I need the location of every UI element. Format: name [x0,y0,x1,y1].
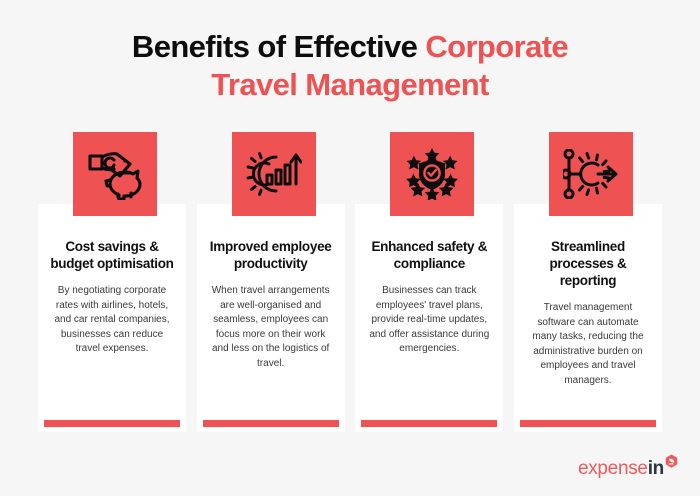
title-text-dark: Benefits of Effective [132,29,425,64]
card-heading: Improved employee productivity [207,238,335,272]
card-icon-tile [73,132,157,216]
gear-with-nodes-and-arrow-icon [563,149,619,199]
card-heading: Streamlined processes & reporting [524,238,652,289]
card-heading: Cost savings & budget optimisation [48,238,176,272]
card-heading: Enhanced safety & compliance [365,238,493,272]
card-body-text: When travel arrangements are well-organi… [209,284,333,371]
card-bottom-rule [44,420,180,427]
title-line-2: Travel Management [0,66,700,104]
card-bottom-rule [361,420,497,427]
card-icon-tile [390,132,474,216]
card-body-text: Businesses can track employees' travel p… [367,284,491,357]
card-body-text: By negotiating corporate rates with airl… [50,284,174,357]
card-bottom-rule [203,420,339,427]
benefit-card-grid: Cost savings & budget optimisation By ne… [38,132,662,432]
benefit-card[interactable]: Cost savings & budget optimisation By ne… [38,132,186,432]
hand-inserting-money-into-piggy-bank-icon [87,148,143,200]
gear-with-rising-bar-chart-icon [246,148,302,200]
hexagon-mark-icon [665,454,678,474]
title-line-1: Benefits of Effective Corporate [0,28,700,66]
title-text-accent-1: Corporate [425,29,568,64]
card-panel: Streamlined processes & reporting Travel… [514,204,662,432]
card-icon-tile [232,132,316,216]
card-bottom-rule [520,420,656,427]
expensein-logo[interactable]: expensein [578,459,678,478]
page-title: Benefits of Effective Corporate Travel M… [0,28,700,104]
shield-with-checkmark-and-stars-icon [405,148,459,200]
card-body-text: Travel management software can automate … [526,301,650,388]
card-panel: Improved employee productivity When trav… [197,204,345,432]
benefit-card[interactable]: Improved employee productivity When trav… [197,132,345,432]
benefit-card[interactable]: Streamlined processes & reporting Travel… [514,132,662,432]
card-icon-tile [549,132,633,216]
logo-word-expense: expense [578,459,648,478]
card-panel: Enhanced safety & compliance Businesses … [355,204,503,432]
card-panel: Cost savings & budget optimisation By ne… [38,204,186,432]
benefit-card[interactable]: Enhanced safety & compliance Businesses … [355,132,503,432]
logo-word-in: in [648,459,664,478]
